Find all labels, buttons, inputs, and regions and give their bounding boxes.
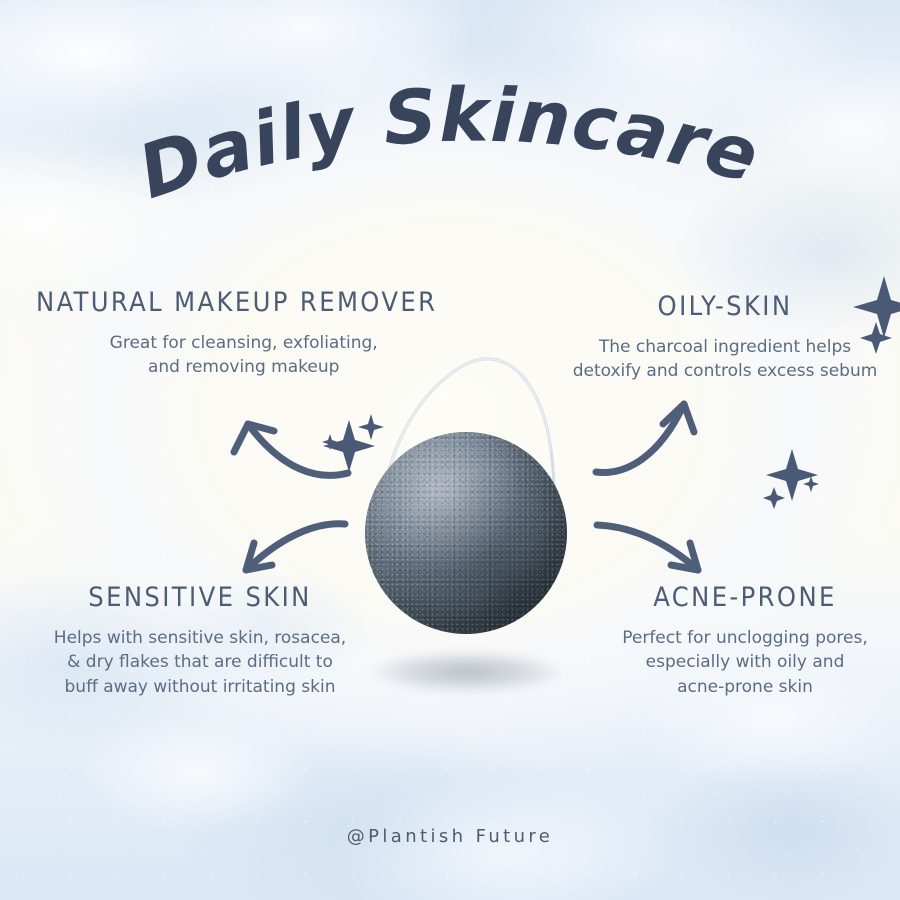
sponge-shading <box>365 432 567 634</box>
feature-heading: NATURAL MAKEUP REMOVER <box>36 288 437 318</box>
feature-body: The charcoal ingredient helps detoxify a… <box>560 335 890 384</box>
feature-heading: ACNE-PRONE <box>600 583 890 613</box>
feature-sensitive-skin: SENSITIVE SKIN Helps with sensitive skin… <box>30 583 370 700</box>
svg-text:Daily Skincare: Daily Skincare <box>129 72 769 215</box>
arrow-up-right-icon <box>596 404 694 472</box>
feature-oily-skin: OILY-SKIN The charcoal ingredient helps … <box>560 292 890 384</box>
footer-handle: @Plantish Future <box>0 826 900 847</box>
feature-body: Helps with sensitive skin, rosacea, & dr… <box>30 626 370 700</box>
feature-heading: SENSITIVE SKIN <box>30 583 370 613</box>
feature-heading: OILY-SKIN <box>560 292 890 322</box>
feature-acne-prone: ACNE-PRONE Perfect for unclogging pores,… <box>600 583 890 700</box>
arrow-down-left-icon <box>246 524 345 570</box>
feature-body: Great for cleansing, exfoliating, and re… <box>36 331 437 380</box>
sponge-body <box>365 432 567 634</box>
page-title: Daily Skincare <box>0 96 900 226</box>
feature-body: Perfect for unclogging pores, especially… <box>600 626 890 700</box>
page-title-text: Daily Skincare <box>129 72 769 215</box>
sparkle-cluster-mid-right <box>763 449 819 509</box>
product-image-konjac-sponge <box>347 330 583 710</box>
arrow-down-right-icon <box>597 525 698 570</box>
skincare-infographic-poster: Daily Skincare <box>0 0 900 900</box>
arrow-up-left-icon <box>234 424 348 475</box>
feature-natural-makeup-remover: NATURAL MAKEUP REMOVER Great for cleansi… <box>36 288 437 380</box>
product-drop-shadow <box>373 652 561 692</box>
